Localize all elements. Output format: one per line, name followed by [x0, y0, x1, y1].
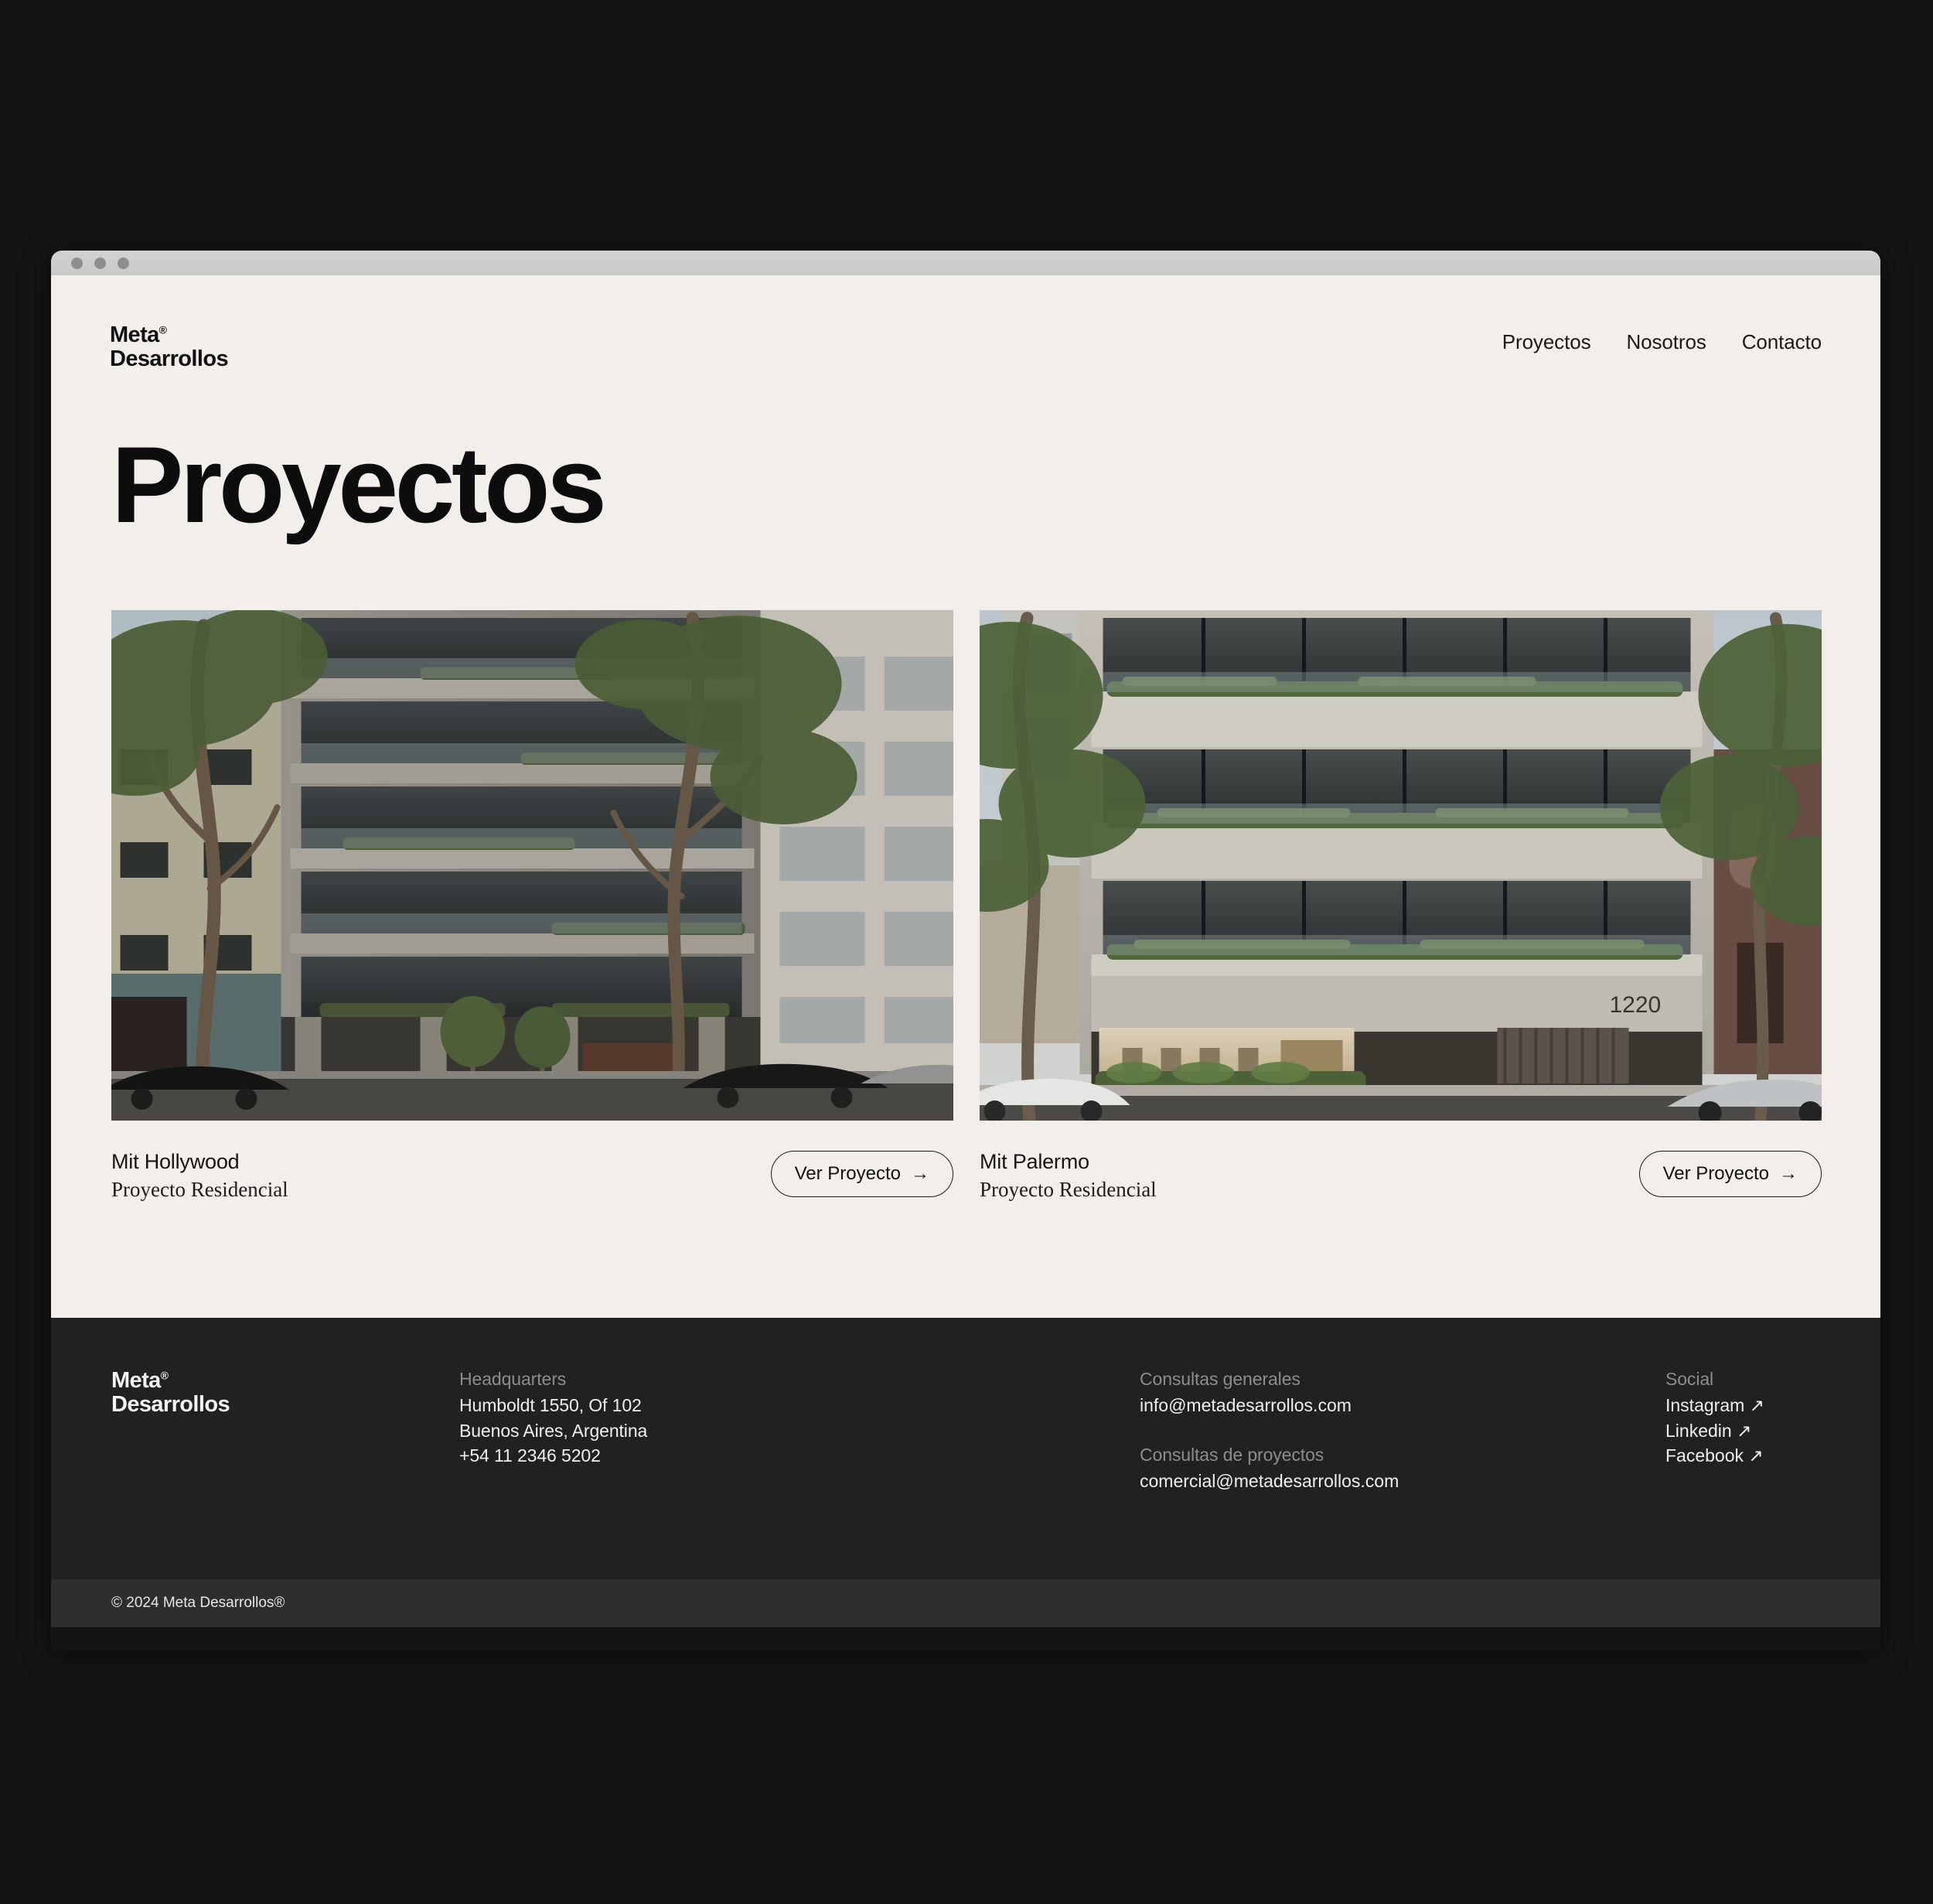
footer-logo-line-1: Meta: [111, 1368, 161, 1393]
registered-mark-icon: ®: [161, 1369, 169, 1381]
project-inquiries-email[interactable]: comercial@metadesarrollos.com: [1140, 1469, 1665, 1494]
project-inquiries-label: Consultas de proyectos: [1140, 1445, 1665, 1466]
general-inquiries-label: Consultas generales: [1140, 1369, 1665, 1390]
ver-proyecto-button[interactable]: Ver Proyecto →: [1639, 1151, 1822, 1197]
address-phone[interactable]: +54 11 2346 5202: [459, 1443, 1140, 1469]
project-caption-row: Mit Hollywood Proyecto Residencial Ver P…: [111, 1148, 953, 1203]
project-image-mit-hollywood[interactable]: [111, 610, 953, 1121]
project-name: Mit Palermo: [980, 1148, 1157, 1175]
project-caption: Mit Palermo Proyecto Residencial: [980, 1148, 1157, 1203]
ver-proyecto-label: Ver Proyecto: [795, 1163, 901, 1185]
project-card[interactable]: 1220: [980, 610, 1822, 1203]
logo-line-1: Meta: [110, 322, 159, 347]
nav-item-proyectos[interactable]: Proyectos: [1502, 330, 1591, 354]
building-illustration: 1220: [980, 610, 1822, 1121]
site-logo[interactable]: Meta® Desarrollos: [110, 323, 228, 372]
project-caption-row: Mit Palermo Proyecto Residencial Ver Pro…: [980, 1148, 1822, 1203]
copyright-bar: © 2024 Meta Desarrollos®: [51, 1579, 1880, 1627]
minimize-dot[interactable]: [94, 258, 106, 269]
social-label: Social: [1665, 1369, 1822, 1390]
registered-mark-icon: ®: [159, 323, 167, 336]
nav-item-contacto[interactable]: Contacto: [1742, 330, 1822, 354]
ver-proyecto-label: Ver Proyecto: [1663, 1163, 1769, 1185]
page-content: Meta® Desarrollos Proyectos Nosotros Con…: [51, 275, 1880, 1318]
maximize-dot[interactable]: [118, 258, 129, 269]
main-nav: Proyectos Nosotros Contacto: [1502, 323, 1822, 354]
address-label: Headquarters: [459, 1369, 1140, 1390]
site-footer: Meta® Desarrollos Headquarters Humboldt …: [51, 1318, 1880, 1627]
project-subtitle: Proyecto Residencial: [980, 1175, 1157, 1203]
project-subtitle: Proyecto Residencial: [111, 1175, 288, 1203]
arrow-right-icon: →: [911, 1163, 929, 1185]
address-line-2: Buenos Aires, Argentina: [459, 1418, 1140, 1444]
social-link-facebook[interactable]: Facebook ↗: [1665, 1443, 1822, 1469]
projects-grid: Mit Hollywood Proyecto Residencial Ver P…: [51, 539, 1880, 1203]
copyright-text: © 2024 Meta Desarrollos®: [111, 1595, 285, 1612]
site-header: Meta® Desarrollos Proyectos Nosotros Con…: [51, 275, 1880, 372]
browser-window: Meta® Desarrollos Proyectos Nosotros Con…: [51, 251, 1880, 1650]
browser-titlebar: [51, 251, 1880, 275]
logo-line-2: Desarrollos: [110, 346, 228, 371]
general-inquiries-email[interactable]: info@metadesarrollos.com: [1140, 1393, 1665, 1418]
close-dot[interactable]: [71, 258, 83, 269]
ver-proyecto-button[interactable]: Ver Proyecto →: [771, 1151, 953, 1197]
project-caption: Mit Hollywood Proyecto Residencial: [111, 1148, 288, 1203]
project-card[interactable]: Mit Hollywood Proyecto Residencial Ver P…: [111, 610, 953, 1203]
project-image-mit-palermo[interactable]: 1220: [980, 610, 1822, 1121]
project-name: Mit Hollywood: [111, 1148, 288, 1175]
arrow-right-icon: →: [1779, 1163, 1798, 1185]
nav-item-nosotros[interactable]: Nosotros: [1626, 330, 1706, 354]
footer-logo-line-2: Desarrollos: [111, 1392, 230, 1417]
building-illustration: [111, 610, 953, 1121]
address-line-1: Humboldt 1550, Of 102: [459, 1393, 1140, 1418]
spacer: [1140, 1418, 1665, 1445]
social-link-instagram[interactable]: Instagram ↗: [1665, 1393, 1822, 1418]
page-title: Proyectos: [51, 372, 1880, 539]
social-link-linkedin[interactable]: Linkedin ↗: [1665, 1418, 1822, 1444]
